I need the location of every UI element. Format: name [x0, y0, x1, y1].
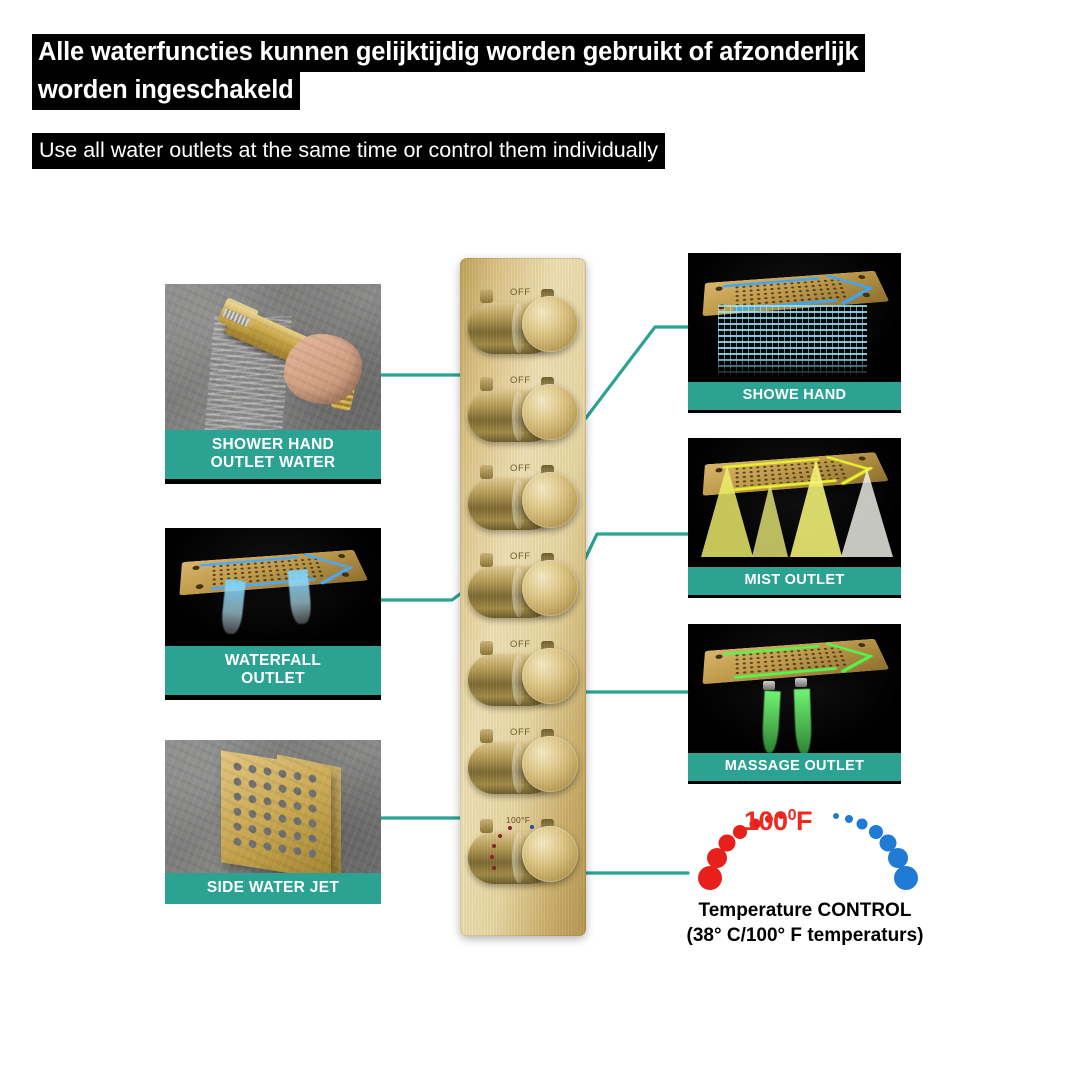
- temp-degree: 0: [788, 807, 796, 824]
- subheadline: Use all water outlets at the same time o…: [32, 133, 665, 169]
- valve-knob-4[interactable]: OFF: [460, 554, 586, 628]
- mist-spray: [841, 469, 893, 557]
- jet-face-plate: [221, 750, 331, 873]
- jet-nozzle-grid: [230, 758, 318, 864]
- knob-lever[interactable]: [480, 641, 493, 655]
- panel-bolt: [858, 275, 866, 279]
- temperature-value: 1000F: [744, 806, 812, 837]
- massage-nozzle: [763, 681, 775, 690]
- card-caption: SHOWER HAND OUTLET WATER: [165, 430, 381, 479]
- temperature-control-graphic: 1000F Temperature CONTROL (38° C/100° F …: [660, 800, 950, 960]
- temperature-subtitle: (38° C/100° F temperaturs): [660, 923, 950, 948]
- infographic-canvas: Alle waterfuncties kunnen gelijktijdig w…: [0, 0, 1080, 1080]
- panel-bolt: [341, 571, 350, 576]
- card-waterfall-outlet[interactable]: WATERFALL OUTLET: [165, 528, 381, 700]
- panel-bolt: [715, 655, 722, 660]
- mist-spray: [790, 459, 842, 557]
- knob-off-label: OFF: [510, 287, 531, 298]
- knob-off-label: OFF: [510, 727, 531, 738]
- knob-cap[interactable]: [522, 296, 578, 352]
- rainfall-curtain: [718, 305, 867, 377]
- massage-nozzle: [795, 678, 807, 687]
- headline-line-1: Alle waterfuncties kunnen gelijktijdig w…: [32, 34, 865, 72]
- knob-cap[interactable]: [522, 384, 578, 440]
- card-massage-outlet[interactable]: MASSAGE OUTLET: [688, 624, 901, 784]
- card-caption: SHOWE HAND: [688, 382, 901, 410]
- waterfall-stream: [221, 579, 247, 635]
- temperature-title: Temperature CONTROL: [660, 898, 950, 923]
- headline-line-2: worden ingeschakeld: [32, 72, 300, 110]
- knob-cap[interactable]: [522, 648, 578, 704]
- card-caption: MIST OUTLET: [688, 567, 901, 595]
- photo-massage: [688, 624, 901, 753]
- valve-knob-1[interactable]: OFF: [460, 290, 586, 364]
- knob-off-label: OFF: [510, 551, 531, 562]
- water-spray: [198, 316, 293, 430]
- panel-bolt: [715, 286, 722, 291]
- knob-lever[interactable]: [480, 465, 493, 479]
- knob-cap[interactable]: [522, 826, 578, 882]
- wand-spray-face: [223, 308, 250, 327]
- card-side-water-jet[interactable]: SIDE WATER JET: [165, 740, 381, 904]
- mist-spray: [752, 483, 788, 557]
- knob-lever[interactable]: [480, 377, 493, 391]
- panel-bolt: [858, 457, 866, 461]
- panel-bolt: [862, 293, 871, 298]
- photo-waterfall: [165, 528, 381, 646]
- jet-wall-plate: [277, 754, 341, 873]
- valve-knob-2[interactable]: OFF: [460, 378, 586, 452]
- panel-bolt: [196, 583, 204, 588]
- knob-off-label: OFF: [510, 463, 531, 474]
- valve-knob-3[interactable]: OFF: [460, 466, 586, 540]
- panel-bolt: [858, 643, 866, 647]
- knob-off-label: OFF: [510, 639, 531, 650]
- knob-cap[interactable]: [522, 472, 578, 528]
- valve-knob-7-thermostatic[interactable]: 100°F: [460, 820, 586, 894]
- card-caption: MASSAGE OUTLET: [688, 753, 901, 781]
- card-showe-hand[interactable]: SHOWE HAND: [688, 253, 901, 413]
- knob-off-label: OFF: [510, 375, 531, 386]
- photo-shower-hand: [165, 284, 381, 430]
- massage-stream: [761, 691, 780, 753]
- knob-cap[interactable]: [522, 736, 578, 792]
- knob-lever[interactable]: [480, 819, 493, 833]
- knob-lever[interactable]: [480, 553, 493, 567]
- massage-stream: [793, 688, 811, 753]
- knob-lever[interactable]: [480, 289, 493, 303]
- card-mist-outlet[interactable]: MIST OUTLET: [688, 438, 901, 598]
- knob-cap[interactable]: [522, 560, 578, 616]
- headline-block: Alle waterfuncties kunnen gelijktijdig w…: [32, 34, 992, 110]
- photo-side-water-jet: [165, 740, 381, 873]
- valve-knob-6[interactable]: OFF: [460, 730, 586, 804]
- temp-number: 100: [744, 806, 788, 836]
- hand: [284, 334, 362, 404]
- card-caption: WATERFALL OUTLET: [165, 646, 381, 695]
- photo-rainfall: [688, 253, 901, 382]
- panel-bolt: [338, 553, 346, 557]
- jet-swivel-arm: [286, 790, 322, 828]
- valve-knob-5[interactable]: OFF: [460, 642, 586, 716]
- wand-head: [217, 297, 259, 335]
- thermostatic-shower-valve-panel[interactable]: OFF OFF OFF OFF: [460, 258, 586, 936]
- temp-unit: F: [796, 806, 812, 836]
- photo-mist: [688, 438, 901, 567]
- panel-bolt: [193, 565, 200, 570]
- handheld-wand: [224, 306, 331, 376]
- card-caption: SIDE WATER JET: [165, 873, 381, 904]
- mist-spray: [701, 465, 753, 557]
- knob-lever[interactable]: [480, 729, 493, 743]
- ceiling-shower-panel: [180, 549, 369, 595]
- shower-hose: [331, 362, 360, 411]
- temperature-caption: Temperature CONTROL (38° C/100° F temper…: [660, 898, 950, 948]
- card-shower-hand-outlet-water[interactable]: SHOWER HAND OUTLET WATER: [165, 284, 381, 484]
